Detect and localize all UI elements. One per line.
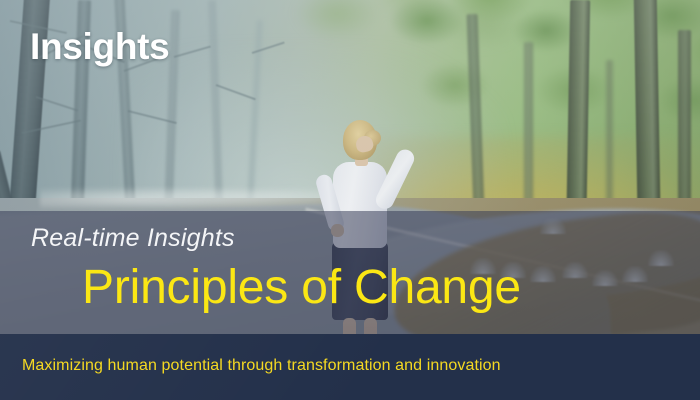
green-tree-trunk bbox=[606, 60, 613, 220]
wildflower-patch bbox=[40, 186, 340, 208]
subtitle-text: Maximizing human potential through trans… bbox=[22, 357, 501, 375]
brand-label: Insights bbox=[30, 26, 169, 68]
eyebrow-text: Real-time Insights bbox=[31, 224, 235, 253]
page-title: Principles of Change bbox=[82, 264, 521, 312]
insights-banner: Insights Real-time Insights Principles o… bbox=[0, 0, 700, 400]
green-tree-trunk bbox=[524, 42, 533, 214]
